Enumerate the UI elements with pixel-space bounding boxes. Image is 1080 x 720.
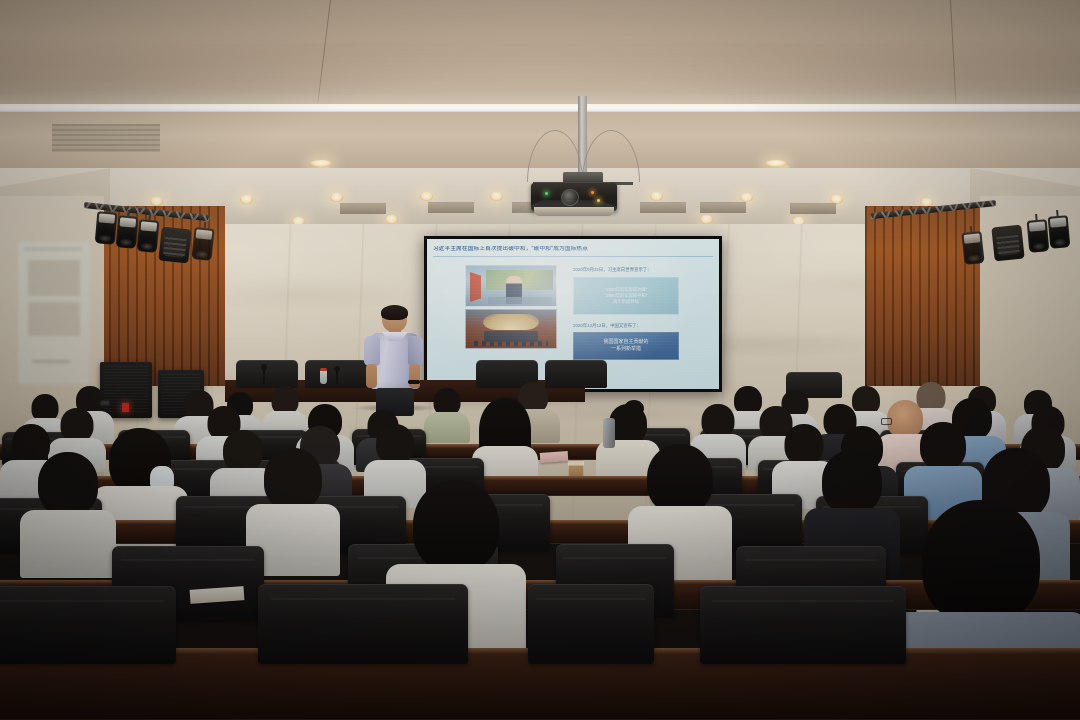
slide-title: 习近平主席在国际上首次提出碳中和，"碳中和"成为国际热点 [433,246,713,252]
stage-spotlight [116,215,139,249]
callout-2-line-2: 一系列新举措 [611,346,641,354]
presenter-arm-left [366,364,377,388]
hvac-slot-vent [428,202,474,213]
photo-seat-row [474,341,548,346]
spotlight-yoke [106,206,109,214]
spill-footer-line [32,360,70,363]
torso [20,510,116,578]
ceiling-downlight [150,197,163,206]
head [376,424,414,464]
stage-spotlight [1027,219,1050,253]
presenter-sleeve-right [408,336,423,366]
ceiling-downlight [740,193,753,202]
accent-spot-left [310,160,332,167]
stage-spotlight [95,211,118,245]
callout-1-line-3: 两个阶段目标 [613,299,639,305]
photo-hall-ceiling [483,314,539,330]
head [822,450,882,514]
eyeglasses [100,400,110,406]
table-microphone-stand [263,368,265,384]
ceiling-downlight [420,192,433,201]
stage-spotlight-large [158,227,191,264]
head [647,444,713,514]
spill-image-block [28,260,80,296]
water-bottle [320,368,327,384]
stage-spotlight-large [991,225,1024,262]
audience-chair-foreground [528,584,654,664]
hair-bun [624,400,644,417]
head [702,404,735,438]
hvac-slot-vent [790,203,836,214]
stage-spotlight [961,231,984,265]
table-microphone-stand [336,370,338,384]
ceiling-downlight [650,192,663,201]
hvac-slot-vent [640,202,686,213]
head-table-chair [236,360,298,388]
stage-spotlight [191,227,214,261]
slide-caption-2: 2020年12月12日，中国又宣布了： [573,323,641,329]
head [61,408,94,442]
stainless-thermos [603,418,615,448]
presenter-hair [381,305,408,320]
attendee [424,388,470,442]
attendee [20,452,116,574]
projector-status-led [545,192,548,195]
presenter-figure [362,306,430,410]
ceiling-downlight [385,215,398,224]
lecture-hall-scene: 习近平主席在国际上首次提出碳中和，"碳中和"成为国际热点 2020年9月22日，… [0,0,1080,720]
audience-chair-foreground [700,586,906,664]
slide-photo-top [465,265,557,307]
table-microphone-head [261,364,267,370]
audience-chair-foreground [0,586,176,664]
stage-spotlight [137,219,160,253]
spotlight-yoke [148,214,151,222]
accent-spot-right [765,160,787,167]
slide-title-underline [433,256,713,257]
ceiling-upper-panel [0,0,1080,108]
slide-callout-box-1: "2030年前实现碳达峰" "2060年前实现碳中和" 两个阶段目标 [573,277,679,315]
spill-title-line [24,248,82,250]
hvac-slot-vent [700,202,746,213]
pink-handout [540,451,569,463]
audience-chair-foreground [258,584,468,664]
table-microphone-head [334,366,340,372]
eyeglasses [881,418,892,425]
speaker-power-led [122,403,129,412]
hvac-return-grille [52,124,160,152]
torso [424,412,470,443]
head [920,422,966,470]
spill-image-block [28,302,80,336]
ceiling-downlight [330,193,343,202]
ceiling-downlight [490,192,503,201]
ceiling-downlight [240,195,253,204]
presenter-wristwatch [408,380,420,384]
spotlight-yoke [203,222,206,230]
projector-lamp-led [591,191,594,194]
ceiling-downlight [700,215,713,224]
spotlight-yoke [127,210,130,218]
side-wall-projection-spill [18,242,90,384]
slide-photo-bottom [465,309,557,349]
callout-2-line-1: 我国国家自主贡献的 [603,339,648,347]
photo-podium [488,297,552,304]
head [38,452,98,516]
presenter-sleeve-left [364,336,380,366]
slide-caption-1: 2020年9月22日，习主席向世界宣示了： [573,267,652,273]
hvac-slot-vent [340,203,386,214]
stage-spotlight [1048,215,1071,249]
head [264,448,322,510]
head [922,500,1040,624]
presenter-arm-right [409,364,420,388]
national-flag-icon [470,272,481,302]
head [413,480,499,572]
slide-callout-box-2: 我国国家自主贡献的 一系列新举措 [573,332,679,360]
